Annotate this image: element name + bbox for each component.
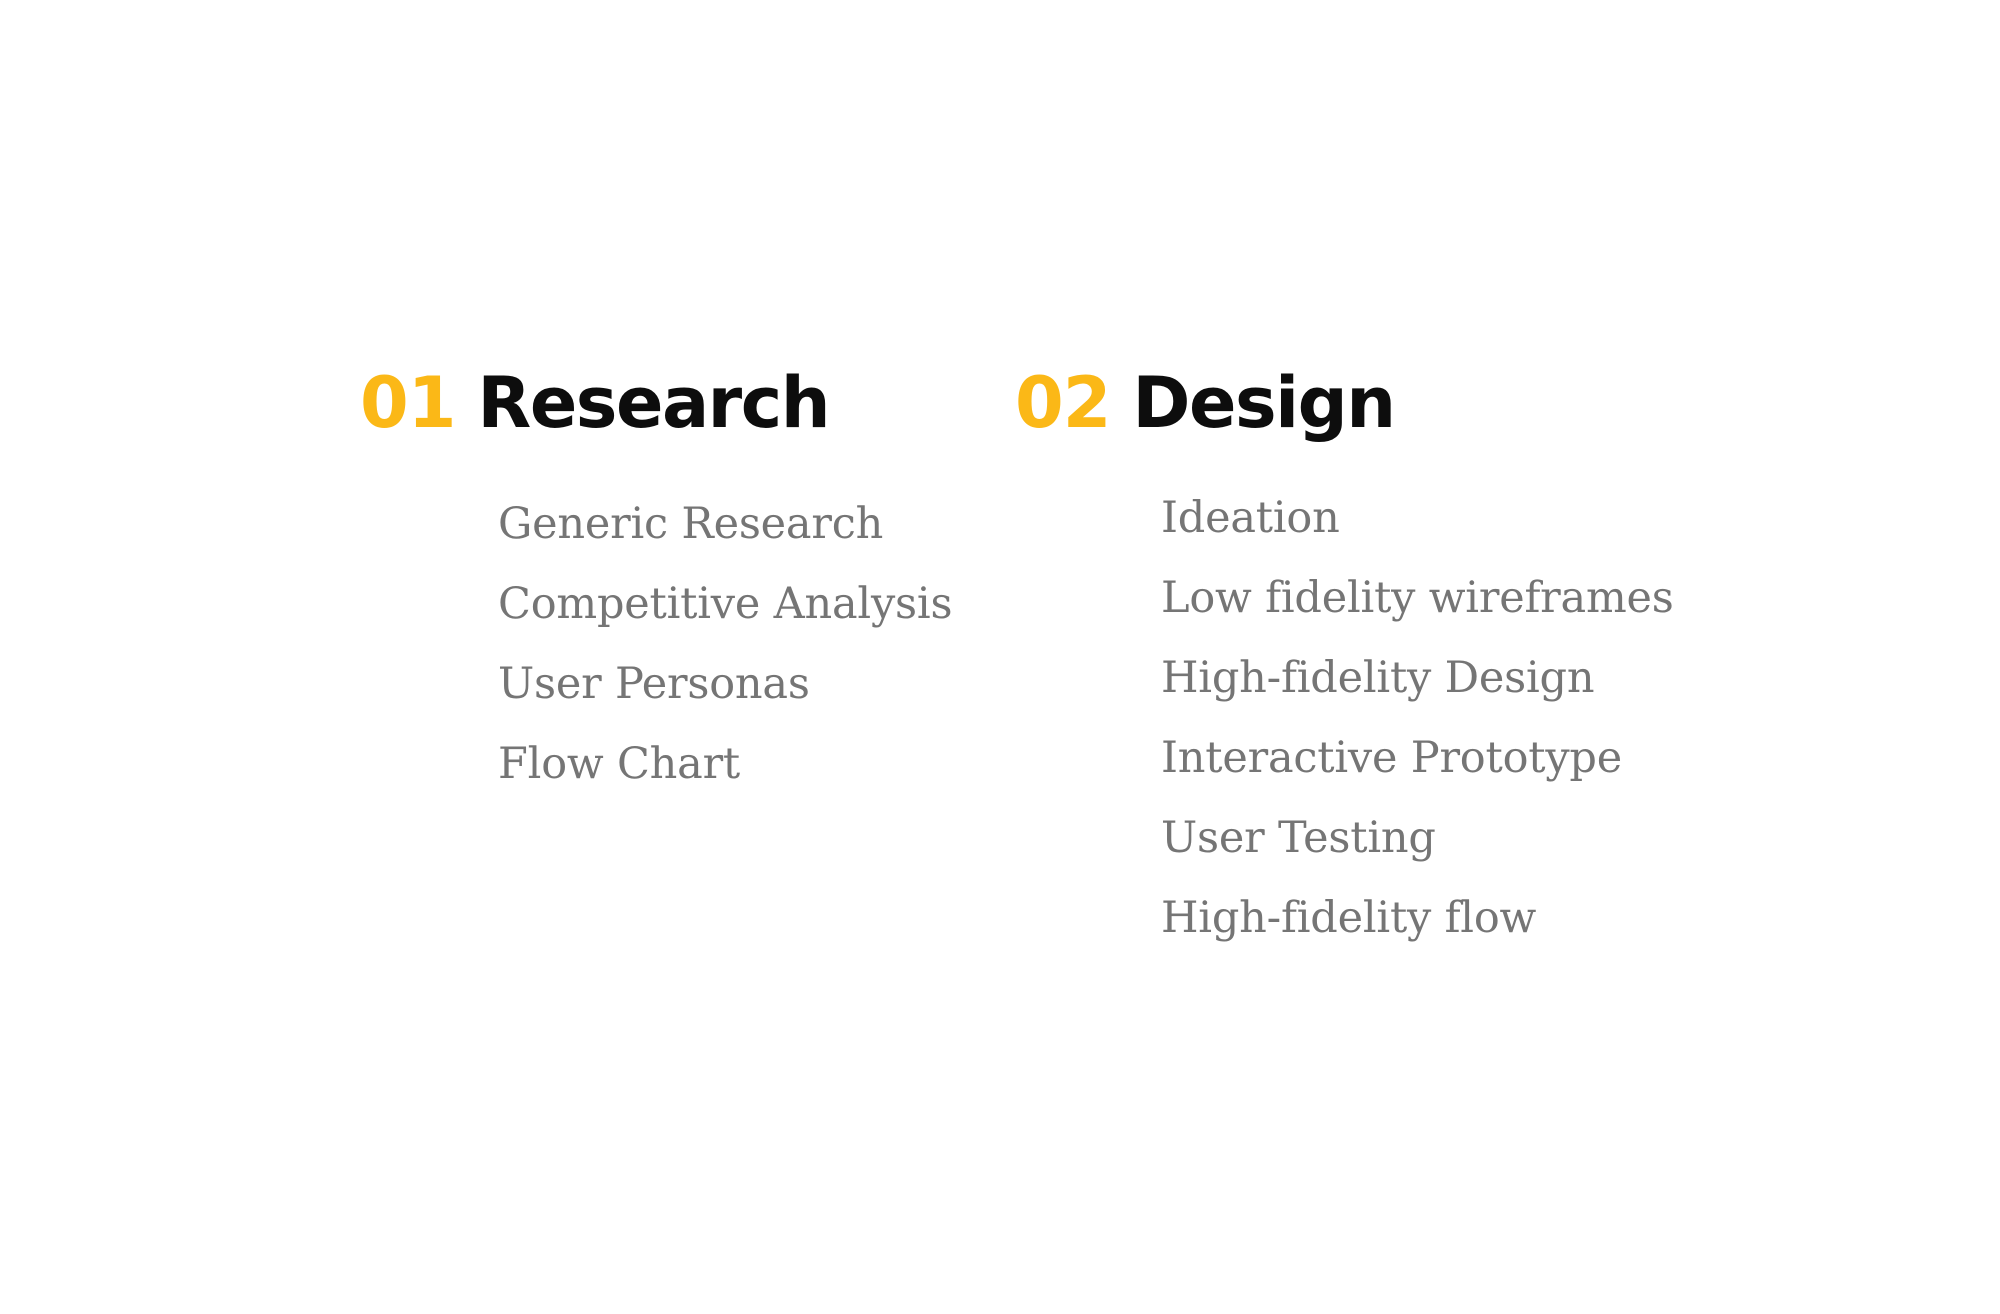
step-list-design: Ideation Low fidelity wireframes High-fi… (1161, 478, 1715, 958)
list-item: User Personas (498, 644, 1015, 724)
step-title-research: Research (477, 368, 829, 438)
step-title-design: Design (1132, 368, 1394, 438)
step-number-01: 01 (360, 368, 455, 438)
step-heading-design: 02 Design (1015, 368, 1715, 438)
list-item: User Testing (1161, 798, 1715, 878)
step-heading-research: 01 Research (360, 368, 1015, 438)
list-item: High-fidelity Design (1161, 638, 1715, 718)
list-item: Competitive Analysis (498, 564, 1015, 644)
step-number-02: 02 (1015, 368, 1110, 438)
process-steps: 01 Research Generic Research Competitive… (360, 368, 1715, 958)
step-column-design: 02 Design Ideation Low fidelity wirefram… (1015, 368, 1715, 958)
list-item: Ideation (1161, 478, 1715, 558)
slide-canvas: 01 Research Generic Research Competitive… (0, 0, 2000, 1314)
list-item: High-fidelity flow (1161, 878, 1715, 958)
list-item: Low fidelity wireframes (1161, 558, 1715, 638)
step-list-research: Generic Research Competitive Analysis Us… (498, 484, 1015, 804)
list-item: Generic Research (498, 484, 1015, 564)
list-item: Interactive Prototype (1161, 718, 1715, 798)
list-item: Flow Chart (498, 724, 1015, 804)
step-column-research: 01 Research Generic Research Competitive… (360, 368, 1015, 804)
